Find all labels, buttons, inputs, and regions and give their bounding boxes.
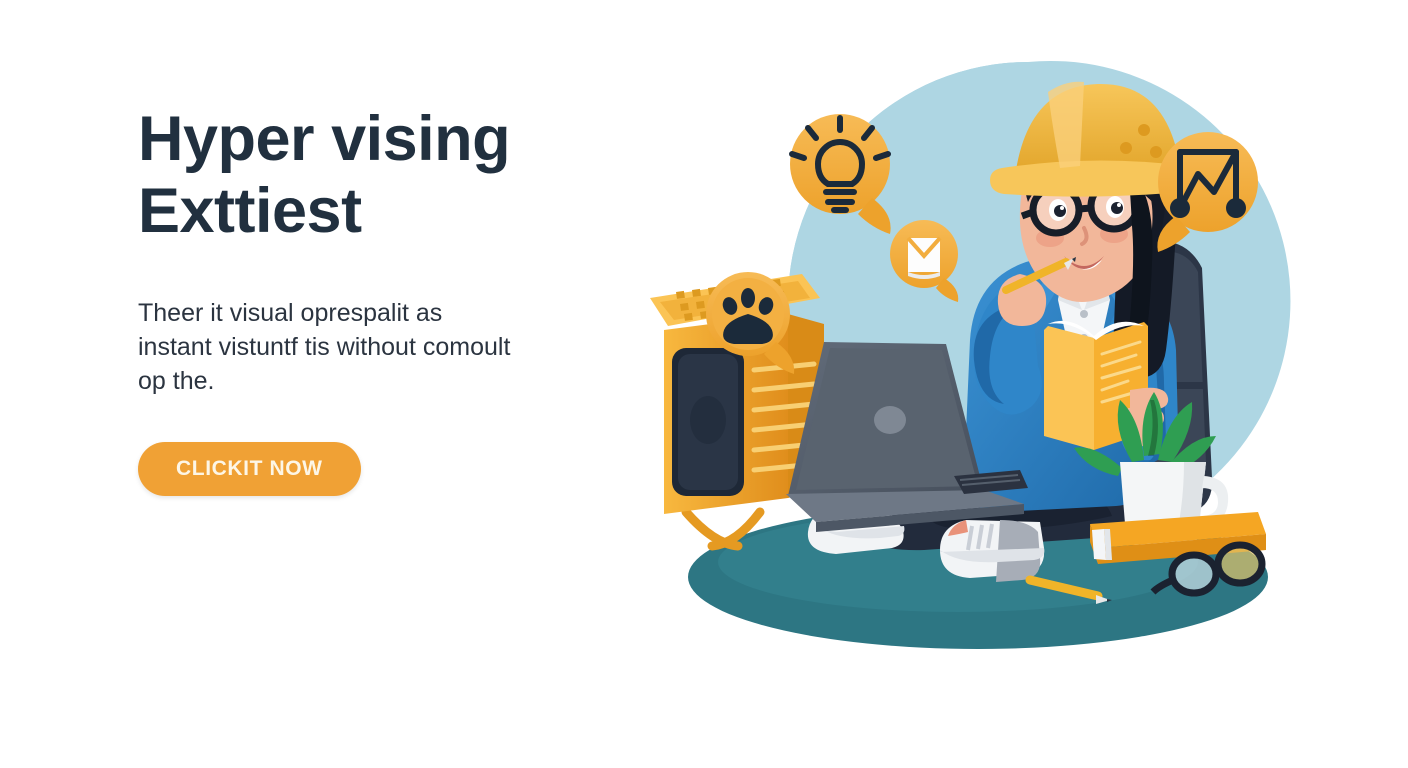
hero-illustration <box>628 52 1328 672</box>
hero-banner: Hyper vising Exttiest Theer it visual op… <box>0 0 1408 768</box>
hero-copy-block: Hyper vising Exttiest Theer it visual op… <box>138 104 608 496</box>
headline-line-1: Hyper vising <box>138 104 510 174</box>
right-sneaker <box>940 520 1044 582</box>
hero-body-text: Theer it visual oprespalit as instant vi… <box>138 296 518 398</box>
headline-line-2: Exttiest <box>138 176 608 248</box>
clickit-now-button[interactable]: CLICKIT NOW <box>138 442 361 496</box>
page-title: Hyper vising Exttiest <box>138 104 608 248</box>
laptop-logo <box>874 406 906 434</box>
